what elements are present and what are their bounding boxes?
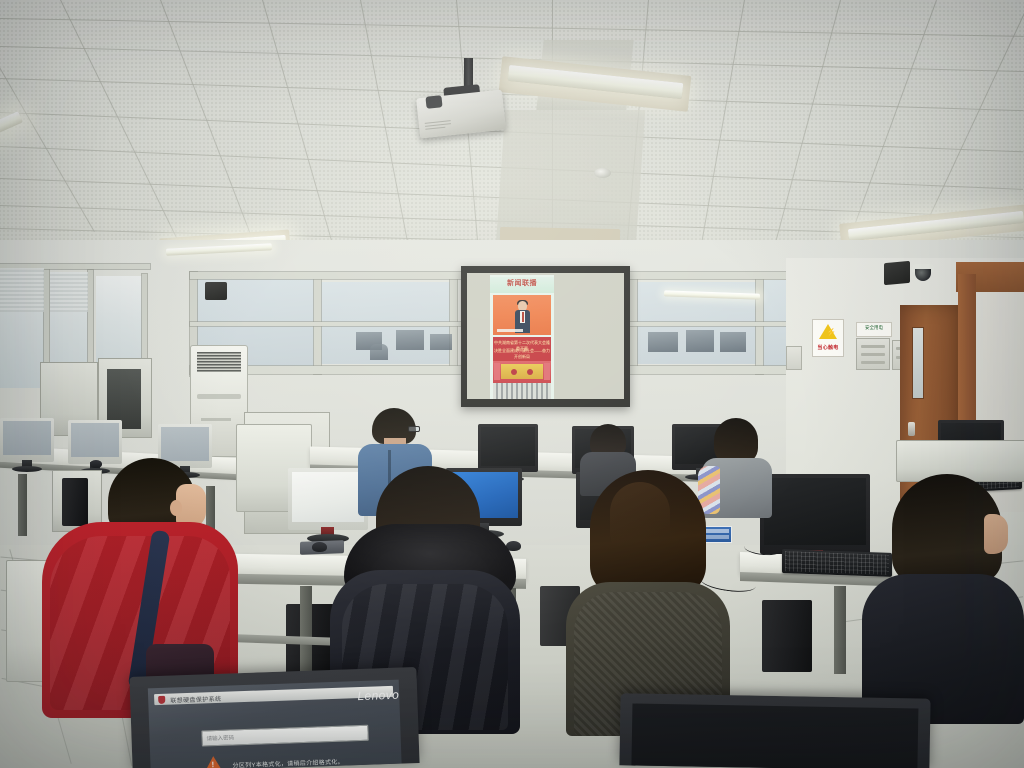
classroom-photo: 新闻联播 中共湖南省第十二次代表大会隆重开幕 决胜全面建成小康社会——奋力开创新… (0, 0, 1024, 768)
lightning-bolt-icon: ⚡ (826, 329, 836, 337)
projected-broadcast: 新闻联播 中共湖南省第十二次代表大会隆重开幕 决胜全面建成小康社会——奋力开创新… (490, 275, 554, 399)
person-far-right (862, 474, 1024, 724)
shield-icon (158, 696, 165, 704)
electric-shock-warning-sign: ⚡ 当心触电 (812, 319, 844, 357)
smoke-detector (594, 168, 611, 178)
ac-vent-grill (197, 352, 241, 372)
foreground-monitor-right-screen[interactable] (631, 704, 918, 768)
far-room-monitor-3 (430, 334, 452, 350)
hazard-sign-text: 当心触电 (813, 344, 843, 351)
monitor-base (12, 466, 42, 472)
broadcast-stage-scene (493, 361, 551, 383)
broadcast-audience-seating (493, 383, 551, 399)
foreground-monitor-right[interactable] (619, 693, 930, 768)
camera-dome (915, 269, 931, 281)
broadcast-headline: 新闻联播 (490, 278, 554, 288)
monitor-screen (161, 427, 209, 461)
monitor-screen (3, 421, 51, 455)
mouse-center[interactable] (312, 542, 327, 552)
far-room-monitor-5 (686, 330, 714, 352)
projector-lens (425, 95, 442, 109)
far-room-monitor-4 (648, 332, 678, 352)
electrical-panel-1 (856, 338, 890, 370)
speaker-tie (522, 312, 524, 322)
projection-screen-surface: 新闻联播 中共湖南省第十二次代表大会隆重开幕 决胜全面建成小康社会——奋力开创新… (467, 273, 624, 399)
safety-notice-text: 安全用电 (857, 325, 891, 331)
door-handle[interactable] (908, 422, 915, 436)
dome-security-camera (912, 264, 934, 282)
fluorescent-light-back-left (166, 243, 272, 256)
pc-tower-right (762, 600, 812, 672)
person-hair-highlight (610, 482, 670, 562)
password-input[interactable]: 请输入密码 (201, 725, 368, 747)
warning-exclamation: ! (211, 761, 214, 768)
password-placeholder: 请输入密码 (206, 733, 234, 742)
person-ear (170, 500, 182, 516)
far-room-monitor-6 (720, 332, 746, 352)
person-glasses (408, 426, 420, 432)
wall-speaker-left (205, 282, 227, 300)
monitor-black-left[interactable] (478, 424, 538, 472)
monitor-screen (764, 478, 866, 545)
far-room-monitor-2 (396, 330, 424, 350)
electrical-panel-3 (786, 346, 802, 370)
lenovo-foreground-monitor[interactable]: 联想硬盘保护系统 请输入密码 ! 分区列Y本格式化，请稍后介绍格式化。 Leno… (129, 667, 419, 768)
person-face-profile (984, 514, 1008, 554)
broadcast-caption-line2: 决胜全面建成小康社会——奋力开创新局 (494, 348, 550, 360)
broadcast-caption-band: 中共湖南省第十二次代表大会隆重开幕 决胜全面建成小康社会——奋力开创新局 (493, 337, 551, 361)
broadcast-photo (493, 295, 551, 335)
lenovo-logo: Lenovo (357, 688, 399, 703)
monitor-screen (71, 423, 119, 457)
monitor-screen (481, 427, 535, 466)
door-vision-panel (912, 327, 924, 399)
ceiling (0, 0, 1024, 268)
monitor-row-back-1[interactable] (0, 418, 54, 462)
window-blind-left-2 (50, 272, 88, 312)
far-room-person (370, 344, 388, 360)
wall-speaker (884, 261, 910, 285)
ceiling-projector (418, 86, 504, 134)
safety-notice-sign: 安全用电 (856, 322, 892, 337)
projection-screen: 新闻联播 中共湖南省第十二次代表大会隆重开幕 决胜全面建成小康社会——奋力开创新… (461, 266, 630, 407)
hdd-protection-title: 联想硬盘保护系统 (170, 693, 221, 704)
broadcast-stage-backdrop (501, 364, 543, 379)
broadcast-lower-third-strip (497, 329, 523, 332)
window-blind-left (0, 268, 44, 312)
